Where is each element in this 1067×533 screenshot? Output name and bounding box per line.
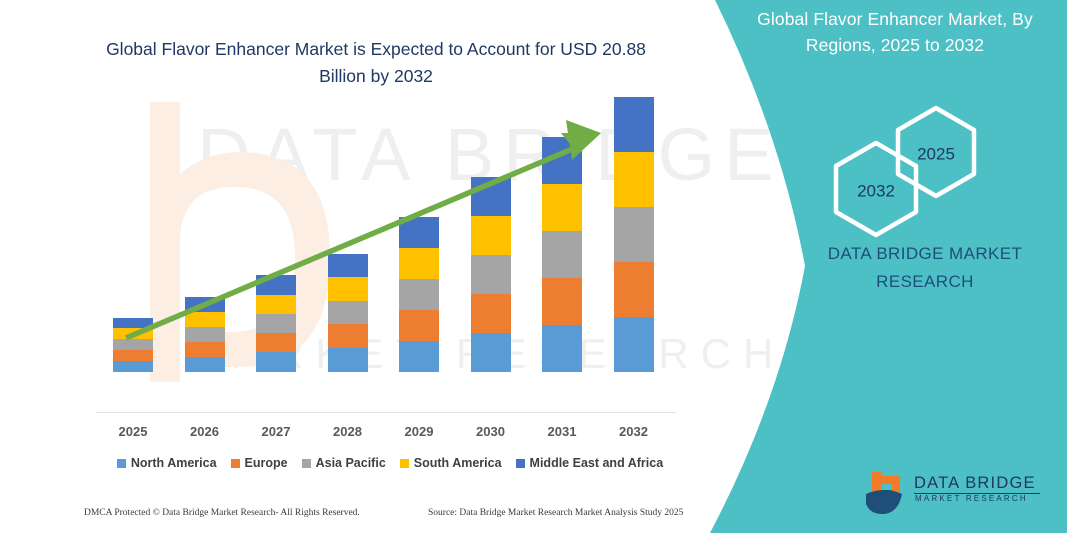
bar-segment — [328, 254, 368, 277]
bar-segment — [185, 297, 225, 312]
bar-segment — [328, 348, 368, 372]
bar-segment — [471, 333, 511, 372]
bar-segment — [399, 310, 439, 341]
footer-source: Source: Data Bridge Market Research Mark… — [428, 508, 683, 518]
legend-item[interactable]: Middle East and Africa — [516, 456, 664, 470]
infographic-canvas: DATA BRIDGE MARKET RESEARCH Global Flavo… — [0, 0, 1067, 533]
bar-column — [614, 97, 654, 372]
bar-segment — [113, 328, 153, 339]
panel-brand-line-1: DATA BRIDGE MARKET — [790, 240, 1060, 268]
bar-segment — [399, 341, 439, 372]
bar-segment — [185, 342, 225, 357]
bar-column — [471, 177, 511, 372]
legend-label: Asia Pacific — [316, 456, 386, 470]
legend-item[interactable]: North America — [117, 456, 217, 470]
bar-segment — [614, 317, 654, 372]
legend-label: South America — [414, 456, 502, 470]
bar-column — [113, 318, 153, 372]
logo-name: DATA BRIDGE — [914, 474, 1036, 493]
x-axis-tick-label: 2026 — [173, 424, 237, 439]
bar-segment — [256, 352, 296, 372]
bar-segment — [471, 177, 511, 216]
bar-segment — [328, 301, 368, 324]
company-logo: DATA BRIDGE MARKET RESEARCH — [862, 470, 1042, 518]
bar-segment — [471, 255, 511, 294]
bar-segment — [614, 97, 654, 152]
legend-item[interactable]: South America — [400, 456, 502, 470]
x-axis-tick-label: 2027 — [244, 424, 308, 439]
x-axis-tick-label: 2028 — [316, 424, 380, 439]
bar-segment — [614, 152, 654, 207]
panel-title: Global Flavor Enhancer Market, By Region… — [740, 6, 1050, 58]
legend-swatch — [516, 459, 525, 468]
bar-segment — [113, 318, 153, 328]
x-axis-tick-label: 2030 — [459, 424, 523, 439]
x-axis-tick-label: 2031 — [530, 424, 594, 439]
bar-column — [542, 137, 582, 372]
bar-segment — [328, 324, 368, 348]
legend-swatch — [400, 459, 409, 468]
x-axis-tick-label: 2029 — [387, 424, 451, 439]
bar-segment — [399, 248, 439, 279]
legend-item[interactable]: Europe — [231, 456, 288, 470]
bar-segment — [471, 216, 511, 255]
bar-column — [399, 217, 439, 372]
bar-segment — [542, 184, 582, 231]
bar-segment — [471, 294, 511, 333]
bar-segment — [113, 350, 153, 361]
hexagon-icon — [830, 139, 922, 239]
bar-segment — [185, 357, 225, 372]
bar-segment — [399, 217, 439, 248]
legend-swatch — [231, 459, 240, 468]
bar-segment — [614, 207, 654, 262]
bar-segment — [185, 327, 225, 342]
x-axis-tick-label: 2032 — [602, 424, 666, 439]
bar-segment — [399, 279, 439, 310]
bar-segment — [542, 137, 582, 184]
bar-segment — [256, 314, 296, 333]
x-axis-line — [96, 412, 676, 413]
bar-segment — [256, 275, 296, 295]
bar-column — [185, 297, 225, 372]
bar-segment — [542, 278, 582, 325]
logo-mark-icon — [862, 470, 910, 516]
panel-brand-line-2: RESEARCH — [790, 268, 1060, 296]
legend-label: North America — [131, 456, 217, 470]
chart-legend: North AmericaEuropeAsia PacificSouth Ame… — [100, 456, 680, 470]
bar-segment — [185, 312, 225, 327]
bar-segment — [542, 231, 582, 278]
bar-column — [328, 254, 368, 372]
legend-swatch — [117, 459, 126, 468]
footer-copyright: DMCA Protected © Data Bridge Market Rese… — [84, 508, 360, 518]
logo-tagline: MARKET RESEARCH — [915, 494, 1028, 503]
bar-segment — [328, 277, 368, 301]
bar-segment — [256, 333, 296, 352]
bar-column — [256, 275, 296, 372]
panel-brand-name: DATA BRIDGE MARKET RESEARCH — [790, 240, 1060, 296]
bar-segment — [113, 361, 153, 372]
legend-item[interactable]: Asia Pacific — [302, 456, 386, 470]
legend-swatch — [302, 459, 311, 468]
hexagon-end-year: 2032 — [830, 139, 922, 244]
bar-segment — [614, 262, 654, 317]
bar-segment — [256, 295, 296, 314]
legend-label: Middle East and Africa — [530, 456, 664, 470]
x-axis-tick-label: 2025 — [101, 424, 165, 439]
page-title: Global Flavor Enhancer Market is Expecte… — [96, 36, 656, 90]
legend-label: Europe — [245, 456, 288, 470]
bar-segment — [113, 339, 153, 350]
bar-segment — [542, 325, 582, 372]
